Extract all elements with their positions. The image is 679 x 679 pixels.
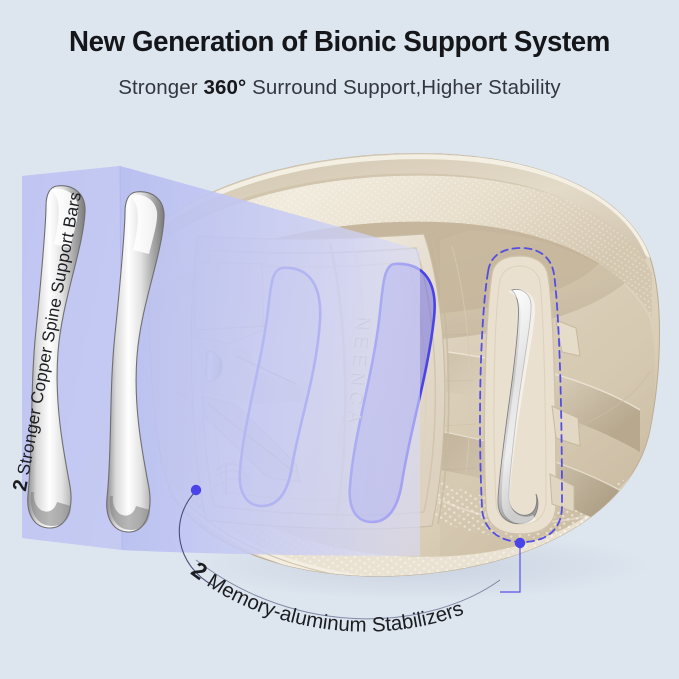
anchor-dot-right xyxy=(515,538,525,548)
buckle-loop-lower xyxy=(550,474,574,512)
leader-line-right xyxy=(500,545,520,592)
pad-pocket-seam xyxy=(236,356,296,384)
product-illustration: NEENCA NEENCA xyxy=(0,0,679,679)
pad-mark-group xyxy=(214,462,250,494)
belt-top-band-texture xyxy=(150,176,652,318)
belt-bottom-hem xyxy=(180,440,652,587)
pad-centre-channel-2 xyxy=(352,242,367,520)
left-callout-text: Stronger Copper Spine Support Bars xyxy=(12,190,85,481)
pad-seam-right-2 xyxy=(452,246,470,520)
spine-bar-outline-right xyxy=(350,264,435,522)
pad-metal-clip xyxy=(206,352,222,382)
bottom-callout-text: Memory-aluminum Stabilizers xyxy=(203,569,466,636)
stabilizer-housing-shell xyxy=(484,256,556,534)
strap-upper-right-edge xyxy=(448,352,640,410)
stabilizer-dashed-outline xyxy=(480,248,562,542)
belt-top-piping xyxy=(150,154,650,252)
lumbar-pad: NEENCA NEENCA xyxy=(191,234,445,529)
belt-top-band xyxy=(150,176,652,318)
stabilizer-stay-highlight xyxy=(502,290,536,524)
buckle-loop-mid xyxy=(552,406,580,446)
infographic-canvas: New Generation of Bionic Support System … xyxy=(0,0,679,679)
left-callout-label: 2 Stronger Copper Spine Support Bars xyxy=(2,153,94,531)
buckle-loop-upper xyxy=(556,320,580,356)
callout-slab-fold xyxy=(120,166,122,550)
anchor-dot-left xyxy=(191,485,201,495)
belt-bottom-piping-line xyxy=(180,466,652,583)
support-bar-callout-slab xyxy=(22,166,420,556)
pad-pull-strap xyxy=(202,396,300,482)
callout-slab-fill xyxy=(22,166,420,556)
belt-mouth-shade xyxy=(168,174,628,325)
pad-velcro-flap-edge xyxy=(196,326,266,330)
leader-lines xyxy=(179,485,525,619)
pad-seam-right xyxy=(432,238,449,524)
belt-body xyxy=(149,154,660,577)
stabilizer-housing-right xyxy=(484,256,580,534)
callout-slab-overlay xyxy=(120,166,420,556)
bottom-callout-count: 2 xyxy=(187,556,213,585)
spine-bar-2-toe xyxy=(110,496,150,530)
pad-pocket xyxy=(198,344,306,404)
brand-emboss-group: NEENCA NEENCA xyxy=(341,315,373,430)
spine-support-bar-2 xyxy=(107,192,164,532)
stabilizer-stay-right xyxy=(498,290,538,524)
belt-mid-seam xyxy=(176,372,650,454)
brand-emboss-highlight: NEENCA xyxy=(341,315,372,429)
pad-ring-2 xyxy=(213,262,426,501)
lumbar-pad-base xyxy=(191,234,445,529)
spine-bar-highlights xyxy=(240,264,435,522)
spine-bar-outline-left xyxy=(240,268,320,506)
pad-pull-strap-seam xyxy=(208,404,294,472)
leader-line-left xyxy=(179,491,214,586)
strap-upper-right xyxy=(446,352,640,452)
lumbar-belt: NEENCA NEENCA xyxy=(149,152,660,587)
belt-shadow xyxy=(190,532,650,600)
brand-emboss-text: NEENCA xyxy=(342,316,373,430)
pad-pocket-seam-hl xyxy=(240,362,292,388)
strap-lower-right-edge xyxy=(444,432,636,500)
belt-bottom-hem-perf xyxy=(180,440,652,587)
belt-bottom-piping xyxy=(180,466,652,583)
bottom-callout-label: 2Memory-aluminum Stabilizers xyxy=(187,556,467,636)
pad-ring-1 xyxy=(201,248,435,515)
pad-centre-channel xyxy=(330,244,345,520)
leader-arc-bottom xyxy=(196,560,500,619)
strap-lower-right xyxy=(440,432,636,540)
belt-inner-mouth xyxy=(150,152,650,341)
belt-weave xyxy=(190,270,476,470)
stabilizer-housing-ring xyxy=(494,266,546,524)
page-subtitle: Stronger 360° Surround Support,Higher St… xyxy=(0,76,679,100)
subtitle-emphasis: 360° xyxy=(203,76,246,99)
belt-perf-field xyxy=(382,452,648,538)
subtitle-part-1: Stronger xyxy=(118,76,203,99)
belt-right-shade xyxy=(440,230,655,566)
spine-bar-1-toe xyxy=(31,492,71,526)
spine-bar-2-highlight xyxy=(129,195,157,254)
belt-hem-stitch xyxy=(400,478,638,522)
pad-velcro-flap xyxy=(194,262,264,344)
subtitle-part-2: Surround Support,Higher Stability xyxy=(246,76,560,99)
page-title: New Generation of Bionic Support System xyxy=(10,26,669,59)
belt-mouth-deep xyxy=(186,187,606,314)
belt-top-piping-line xyxy=(150,154,650,252)
